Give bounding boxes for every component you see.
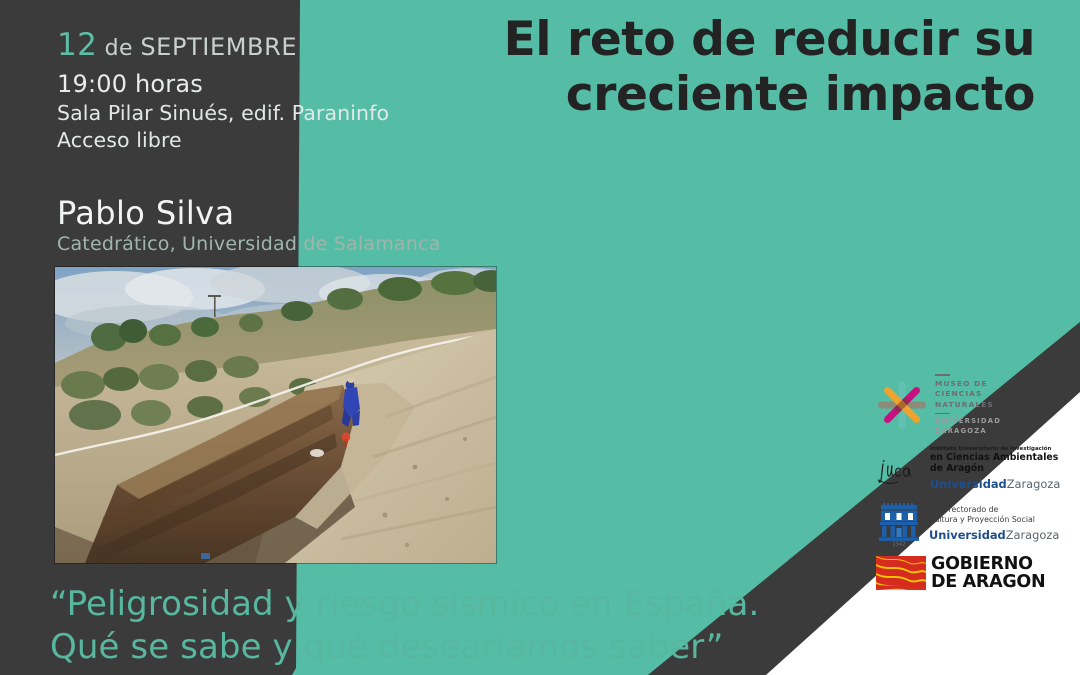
event-month: SEPTIEMBRE — [140, 33, 297, 61]
vice-line-1: Vicerrectorado de — [929, 505, 1059, 516]
photo-illustration — [55, 267, 496, 563]
iuca-universidad: UniversidadZaragoza — [930, 476, 1060, 493]
quote-line-2: Qué se sabe y qué desearíamos saber” — [50, 626, 759, 669]
university-building-icon: 1542 — [876, 502, 922, 546]
museo-sub-2: ZARAGOZA — [935, 427, 1001, 437]
logo-gobierno-aragon: GOBIERNO DE ARAGON — [876, 555, 1072, 591]
speaker-info: Pablo Silva Catedrático, Universidad de … — [57, 196, 441, 255]
aragon-flag-icon — [876, 556, 926, 590]
museo-line-1: MUSEO DE — [935, 379, 1001, 390]
museo-asterisk-icon — [876, 379, 928, 431]
poster-headline: El reto de reducir su creciente impacto — [395, 12, 1035, 122]
event-details: 12 de SEPTIEMBRE 19:00 horas Sala Pilar … — [57, 28, 389, 152]
museo-rule-bottom — [935, 413, 950, 415]
sponsor-logos: MUSEO DE CIENCIAS NATURALES UNIVERSIDAD … — [876, 372, 1072, 600]
museo-wordmark: MUSEO DE CIENCIAS NATURALES UNIVERSIDAD … — [935, 372, 1001, 437]
logo-vicerrectorado: 1542 Vicerrectorado de Cultura y Proyecc… — [876, 502, 1072, 546]
vice-uz-bold: Universidad — [929, 528, 1006, 542]
museo-line-2: CIENCIAS — [935, 389, 1001, 400]
iuca-line-3: de Aragón — [930, 464, 1060, 475]
gobierno-wordmark: GOBIERNO DE ARAGON — [931, 555, 1045, 591]
gobierno-line-2: DE ARAGON — [931, 573, 1045, 591]
vice-universidad: UniversidadZaragoza — [929, 527, 1059, 544]
talk-title-quote: “Peligrosidad y riesgo sísmico en España… — [50, 583, 759, 669]
iuca-script-icon — [876, 455, 926, 485]
event-day: 12 — [57, 27, 97, 63]
museo-line-3: NATURALES — [935, 400, 1001, 411]
iuca-uz-light: Zaragoza — [1007, 477, 1061, 491]
quote-line-1: “Peligrosidad y riesgo sísmico en España… — [50, 583, 759, 626]
vice-uz-light: Zaragoza — [1006, 528, 1060, 542]
headline-line-2: creciente impacto — [395, 67, 1035, 122]
logo-museo-ciencias-naturales: MUSEO DE CIENCIAS NATURALES UNIVERSIDAD … — [876, 372, 1072, 437]
event-poster: 12 de SEPTIEMBRE 19:00 horas Sala Pilar … — [0, 0, 1080, 675]
museo-sub-1: UNIVERSIDAD — [935, 417, 1001, 427]
vicerrectorado-wordmark: Vicerrectorado de Cultura y Proyección S… — [929, 505, 1059, 544]
event-access: Acceso libre — [57, 128, 389, 152]
speaker-photo — [55, 267, 496, 563]
speaker-name: Pablo Silva — [57, 196, 441, 231]
museo-rule-top — [935, 374, 950, 376]
iuca-uz-bold: Universidad — [930, 477, 1007, 491]
logo-iuca: Instituto Universitario de Investigación… — [876, 446, 1072, 493]
iuca-wordmark: Instituto Universitario de Investigación… — [930, 446, 1060, 493]
headline-line-1: El reto de reducir su — [395, 12, 1035, 67]
gobierno-line-1: GOBIERNO — [931, 555, 1045, 573]
vice-line-2: Cultura y Proyección Social — [929, 515, 1059, 526]
event-date: 12 de SEPTIEMBRE — [57, 28, 389, 64]
event-time: 19:00 horas — [57, 70, 389, 98]
building-year: 1542 — [892, 542, 905, 546]
speaker-role: Catedrático, Universidad de Salamanca — [57, 233, 441, 255]
event-venue: Sala Pilar Sinués, edif. Paraninfo — [57, 101, 389, 125]
event-date-connector: de — [97, 36, 140, 61]
